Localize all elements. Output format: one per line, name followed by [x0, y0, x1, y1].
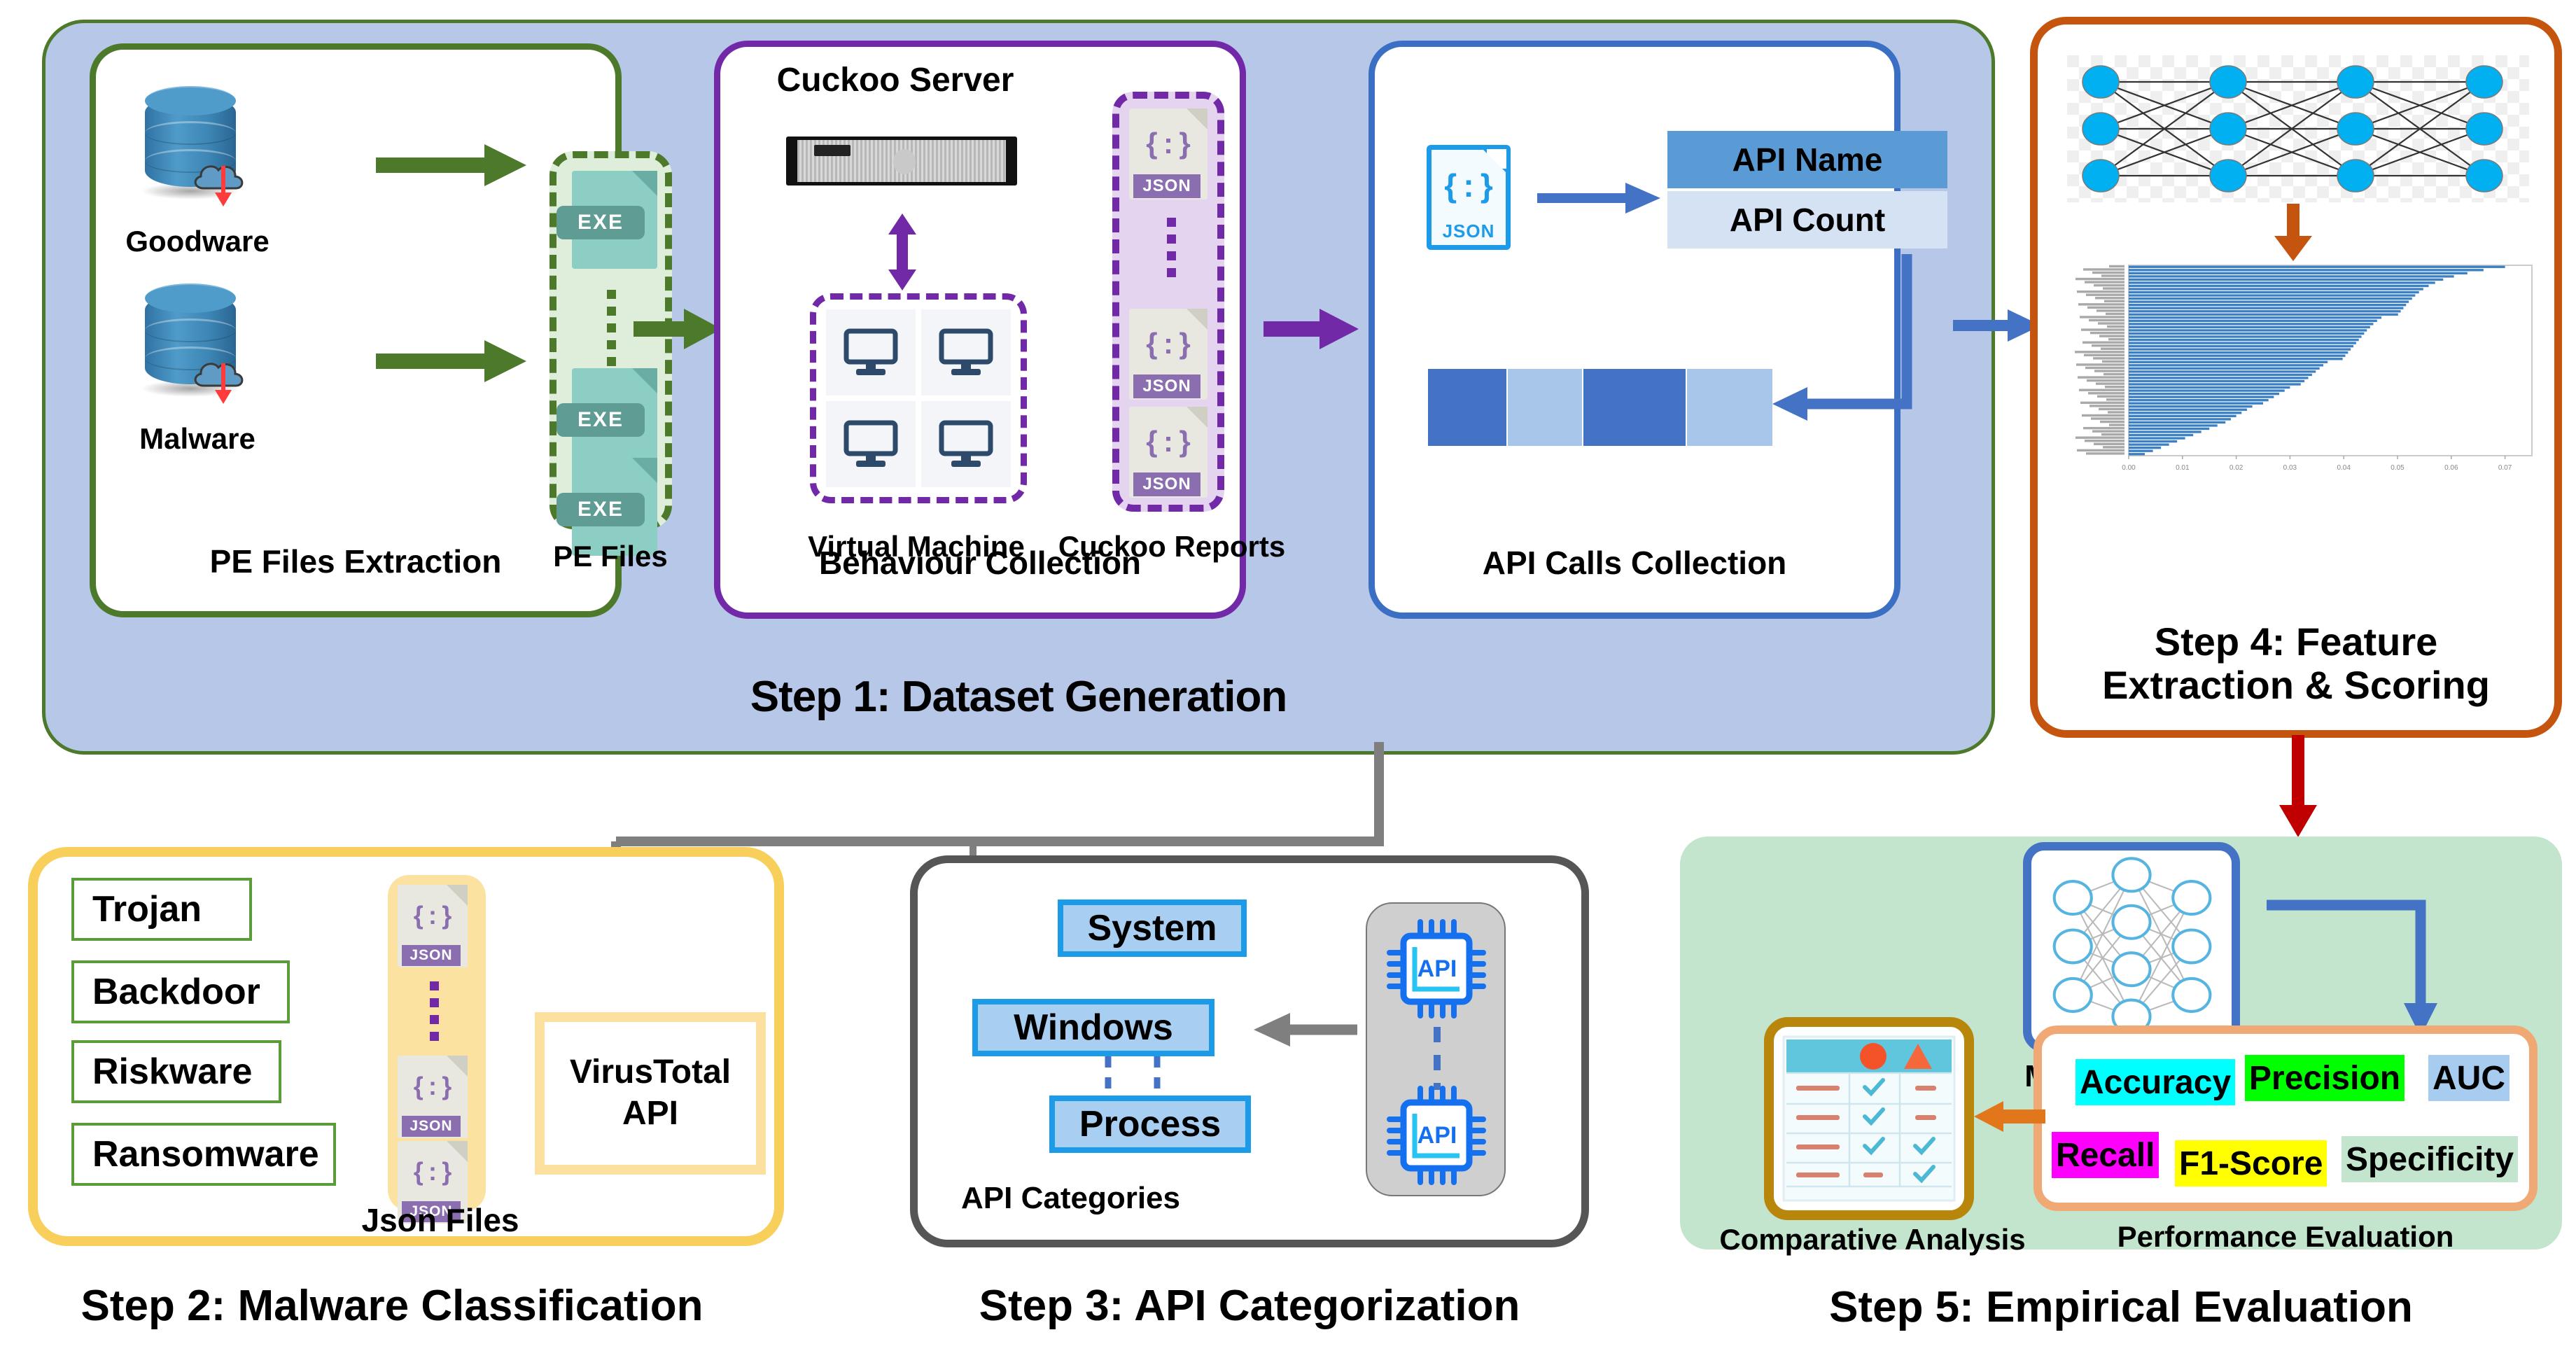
json-file-icon: { : } JSON: [1129, 407, 1207, 498]
json-files-label: Json Files: [325, 1201, 556, 1239]
monitor-icon: [826, 401, 916, 487]
card-api-calls-collection: { : } JSON API Name API Count API Calls …: [1368, 41, 1900, 619]
json-file-icon: { : } JSON: [1129, 309, 1207, 400]
metric-badge: Precision: [2245, 1055, 2404, 1101]
api-sequence-segment: [1428, 369, 1506, 446]
ml-algorithms-box: [2023, 842, 2240, 1052]
ellipsis-vertical-icon: [430, 981, 439, 1041]
api-sequence-segment: [1687, 369, 1772, 446]
api-chip-tray: API: [1366, 902, 1506, 1196]
api-sequence-segment: [1508, 369, 1582, 446]
metric-badge: AUC: [2428, 1055, 2509, 1101]
json-file-tag: JSON: [1133, 472, 1200, 496]
json-file-icon: { : } JSON: [398, 1056, 468, 1138]
api-chip-icon: API: [1384, 916, 1489, 1021]
api-categories-caption: API Categories: [961, 1181, 1180, 1216]
card-behaviour-collection: Cuckoo Server Virtual Machine: [714, 41, 1246, 619]
malware-family-chip: Trojan: [71, 878, 252, 941]
svg-text:0.03: 0.03: [2283, 464, 2297, 472]
step5-panel: ML Algorithms Accuracy Precision AUC Rec…: [1680, 836, 2562, 1249]
api-category-chip: Windows: [972, 999, 1214, 1056]
card-pe-files-extraction: Goodware Malware: [90, 43, 622, 617]
arrow-pe-to-behaviour-icon: [633, 304, 724, 353]
svg-text:0.02: 0.02: [2229, 464, 2243, 472]
step4-panel: 0.000.010.020.030.040.050.060.07 Step 4:…: [2030, 17, 2562, 738]
exe-file-tag: EXE: [556, 493, 645, 526]
exe-file-icon: EXE: [572, 368, 657, 466]
dashed-connector: [1098, 1056, 1182, 1100]
malware-family-chip: Riskware: [71, 1040, 281, 1103]
svg-text:0.06: 0.06: [2444, 464, 2458, 472]
json-file-icon: { : } JSON: [1129, 108, 1207, 199]
card-api-caption: API Calls Collection: [1375, 544, 1894, 582]
step5-title: Step 5: Empirical Evaluation: [1680, 1282, 2562, 1332]
json-file-tag: JSON: [1431, 220, 1506, 242]
json-file-tag: JSON: [1133, 374, 1200, 398]
virustotal-line2: API: [570, 1093, 731, 1135]
card-pe-caption: PE Files Extraction: [96, 542, 615, 580]
arrow-malware-to-pe-icon: [376, 337, 530, 386]
neural-network-icon: [2031, 850, 2232, 1044]
svg-text:0.07: 0.07: [2498, 464, 2512, 472]
performance-evaluation-box: Accuracy Precision AUC Recall F1-Score S…: [2033, 1025, 2537, 1211]
goodware-label: Goodware: [110, 225, 285, 258]
malware-family-chip: Backdoor: [71, 960, 290, 1023]
malware-database-icon: [139, 281, 244, 403]
arrow-performance-to-comparative-icon: [1970, 1097, 2047, 1136]
api-chip-icon: API: [1384, 1083, 1489, 1188]
svg-text:API: API: [1417, 955, 1457, 982]
svg-text:0.04: 0.04: [2337, 464, 2351, 472]
svg-text:API: API: [1417, 1122, 1457, 1149]
performance-evaluation-caption: Performance Evaluation: [2033, 1220, 2537, 1254]
step2-title: Step 2: Malware Classification: [14, 1281, 770, 1331]
comparison-table-icon: [1774, 1027, 1964, 1210]
metric-badge: Recall: [2052, 1132, 2159, 1178]
api-sequence-segment: [1583, 369, 1686, 446]
bidirectional-arrow-icon: [883, 213, 922, 290]
comparative-analysis-box: [1764, 1017, 1974, 1220]
virustotal-api-box: VirusTotal API: [535, 1012, 766, 1175]
arrow-goodware-to-pe-icon: [376, 141, 530, 190]
metric-badge: Specificity: [2341, 1136, 2518, 1182]
json-files-container: { : } JSON { : } JSON { : } JSON: [388, 875, 486, 1211]
step3-panel: System Windows Process: [910, 855, 1589, 1247]
ellipsis-vertical-icon: [607, 290, 616, 366]
arrow-step4-to-step5-icon: [2275, 735, 2321, 840]
malware-family-chip: Ransomware: [71, 1123, 336, 1186]
arrow-chips-to-categories-icon: [1247, 1009, 1359, 1051]
monitor-icon: [921, 401, 1011, 487]
virustotal-line1: VirusTotal: [570, 1052, 731, 1093]
json-file-tag: JSON: [402, 1116, 461, 1137]
goodware-database-icon: [139, 83, 244, 206]
json-file-tag: JSON: [402, 945, 461, 966]
arrow-nn-to-chart-icon: [2269, 204, 2318, 262]
malware-label: Malware: [110, 422, 285, 456]
api-category-chip: Process: [1049, 1095, 1251, 1153]
download-arrow-icon: [209, 362, 237, 407]
json-file-icon: { : } JSON: [1427, 145, 1511, 250]
monitor-icon: [921, 309, 1011, 395]
svg-text:0.00: 0.00: [2122, 464, 2136, 472]
metric-badge: Accuracy: [2075, 1059, 2235, 1105]
feature-importance-chart: 0.000.010.020.030.040.050.060.07: [2061, 255, 2537, 479]
card-behaviour-caption: Behaviour Collection: [720, 544, 1240, 582]
monitor-icon: [826, 309, 916, 395]
metric-badge: F1-Score: [2175, 1140, 2327, 1186]
step1-title: Step 1: Dataset Generation: [42, 672, 1995, 722]
download-arrow-icon: [209, 164, 237, 209]
virtual-machine-group: [810, 293, 1027, 503]
comparative-analysis-caption: Comparative Analysis: [1708, 1223, 2037, 1256]
arrow-table-to-strip-icon: [1767, 254, 1935, 433]
svg-text:0.05: 0.05: [2390, 464, 2404, 472]
server-rack-icon: [786, 136, 1017, 185]
cuckoo-reports-container: { : } JSON { : } JSON { : } JSON: [1112, 92, 1224, 512]
api-category-chip: System: [1058, 899, 1247, 957]
step3-title: Step 3: API Categorization: [903, 1281, 1596, 1331]
ellipsis-vertical-icon: [1167, 218, 1176, 277]
step2-panel: Trojan Backdoor Riskware Ransomware { : …: [28, 847, 784, 1246]
diagram-canvas: Goodware Malware: [0, 0, 2576, 1365]
json-file-tag: JSON: [1133, 174, 1200, 198]
exe-file-icon: EXE: [572, 171, 657, 269]
cuckoo-server-title: Cuckoo Server: [748, 61, 1042, 99]
dashed-connector: [1431, 1027, 1443, 1091]
api-count-row: API Count: [1667, 191, 1947, 248]
neural-network-icon: [2067, 55, 2529, 202]
arrow-behaviour-to-api-icon: [1263, 304, 1361, 353]
exe-file-tag: EXE: [556, 206, 645, 239]
step4-title: Step 4: Feature Extraction & Scoring: [2038, 620, 2554, 708]
arrow-json-to-table-icon: [1537, 177, 1663, 219]
api-name-header: API Name: [1667, 131, 1947, 188]
json-file-icon: { : } JSON: [398, 885, 468, 967]
exe-file-tag: EXE: [556, 403, 645, 437]
svg-text:0.01: 0.01: [2176, 464, 2190, 472]
